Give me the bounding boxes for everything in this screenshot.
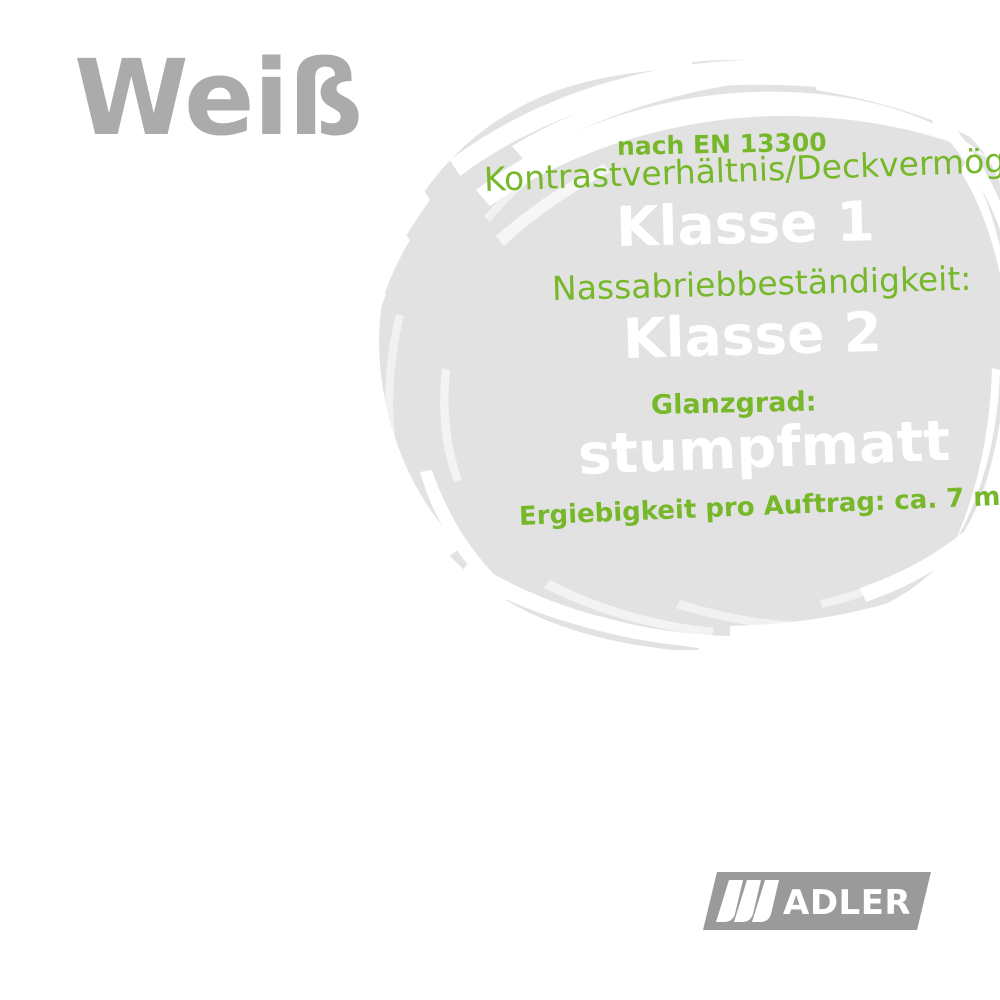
spec-contrast-value: Klasse 1 <box>615 194 875 255</box>
logo-wordmark: ADLER <box>783 883 911 923</box>
spec-coverage-text: Ergiebigkeit pro Auftrag: ca. 7 m²/l <box>518 483 1000 530</box>
spec-abrasion-label: Nassabriebbeständigkeit: <box>552 262 972 305</box>
product-spec-canvas: Weiß <box>0 0 1000 1000</box>
spec-gloss-value: stumpfmatt <box>577 414 951 484</box>
specification-block: nach EN 13300 Kontrastverhältnis/Deckver… <box>0 0 1000 1000</box>
spec-contrast-label: Kontrastverhältnis/Deckvermögen: <box>483 142 1000 196</box>
adler-logo: ADLER <box>703 872 931 930</box>
spec-abrasion-value: Klasse 2 <box>622 305 882 367</box>
